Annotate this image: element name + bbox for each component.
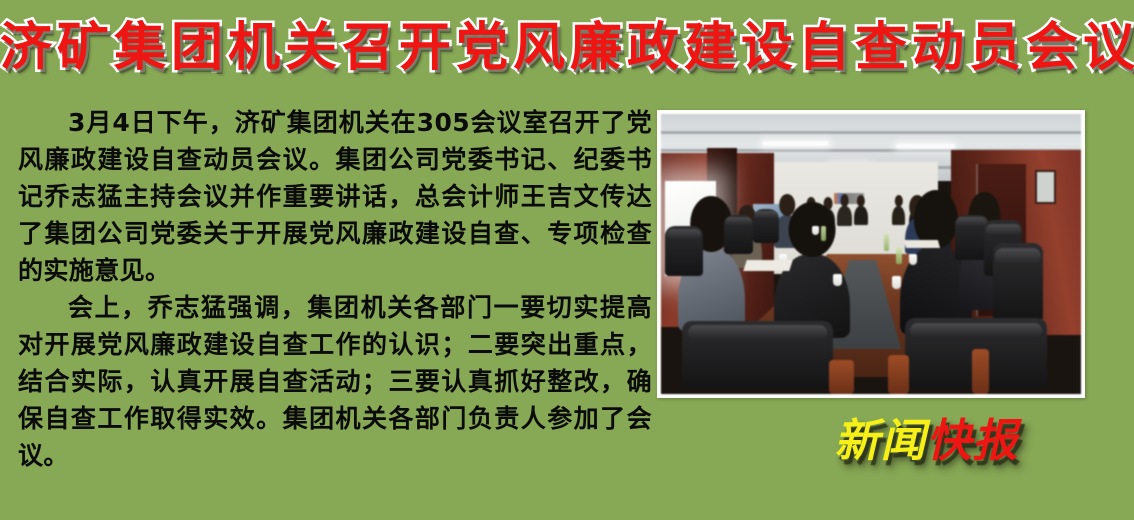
meeting-photo xyxy=(661,114,1081,394)
document xyxy=(743,260,793,271)
cup xyxy=(812,226,819,235)
document xyxy=(903,240,939,248)
chair xyxy=(724,215,753,254)
attendee xyxy=(837,206,851,226)
chair xyxy=(753,209,778,243)
badge-text-yellow: 新闻 xyxy=(832,414,936,467)
cup xyxy=(892,276,901,288)
article-paragraph-1: 3月4日下午，济矿集团机关在305会议室召开了党风廉政建设自查动员会议。集团公司… xyxy=(18,104,652,289)
attendee xyxy=(892,206,905,224)
chair xyxy=(993,243,1043,321)
attendee xyxy=(854,206,867,224)
chair-leg xyxy=(829,360,854,394)
chair xyxy=(665,226,703,276)
chair xyxy=(682,321,833,388)
badge-text-red: 快报 xyxy=(924,414,1028,467)
bottle xyxy=(896,248,901,264)
news-bulletin-badge: 新闻快报 xyxy=(831,412,1080,470)
meeting-photo-frame xyxy=(657,110,1085,398)
article-paragraph-2: 会上，乔志猛强调，集团机关各部门一要切实提高对开展党风廉政建设自查工作的认识；二… xyxy=(18,289,652,474)
article-body: 3月4日下午，济矿集团机关在305会议室召开了党风廉政建设自查动员会议。集团公司… xyxy=(18,104,652,474)
cup xyxy=(833,274,842,286)
page-title: 济矿集团机关召开党风廉政建设自查动员会议 xyxy=(0,18,1134,78)
bottle xyxy=(884,234,890,251)
cup xyxy=(909,254,917,265)
chair-leg xyxy=(972,349,989,394)
bottle xyxy=(821,226,826,241)
chair-leg xyxy=(888,355,909,394)
wall-frame xyxy=(1035,170,1056,204)
